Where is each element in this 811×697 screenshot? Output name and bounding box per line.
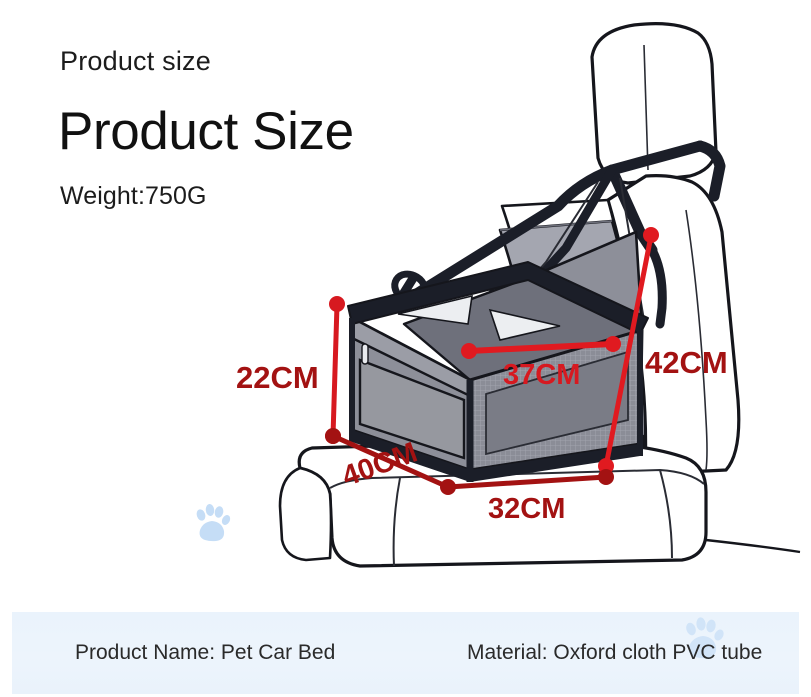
product-size-infographic: Product size Product Size Weight:750G (0, 0, 811, 697)
product-illustration (0, 0, 811, 600)
dimension-label-37cm: 37CM (503, 359, 580, 392)
dimension-label-32cm: 32CM (488, 493, 565, 526)
footer-material: Material: Oxford cloth PVC tube (467, 641, 762, 665)
floor-line (706, 540, 800, 552)
seat-side-bolster (280, 468, 331, 560)
bed-zipper-pull (362, 344, 368, 364)
footer-product-name: Product Name: Pet Car Bed (75, 641, 335, 665)
dimension-label-42cm: 42CM (645, 345, 728, 381)
dimension-label-22cm: 22CM (236, 360, 319, 396)
paw-print-icon (192, 503, 232, 545)
dimension-line-22cm (325, 296, 345, 444)
footer-bar: Product Name: Pet Car Bed Material: Oxfo… (12, 612, 799, 694)
